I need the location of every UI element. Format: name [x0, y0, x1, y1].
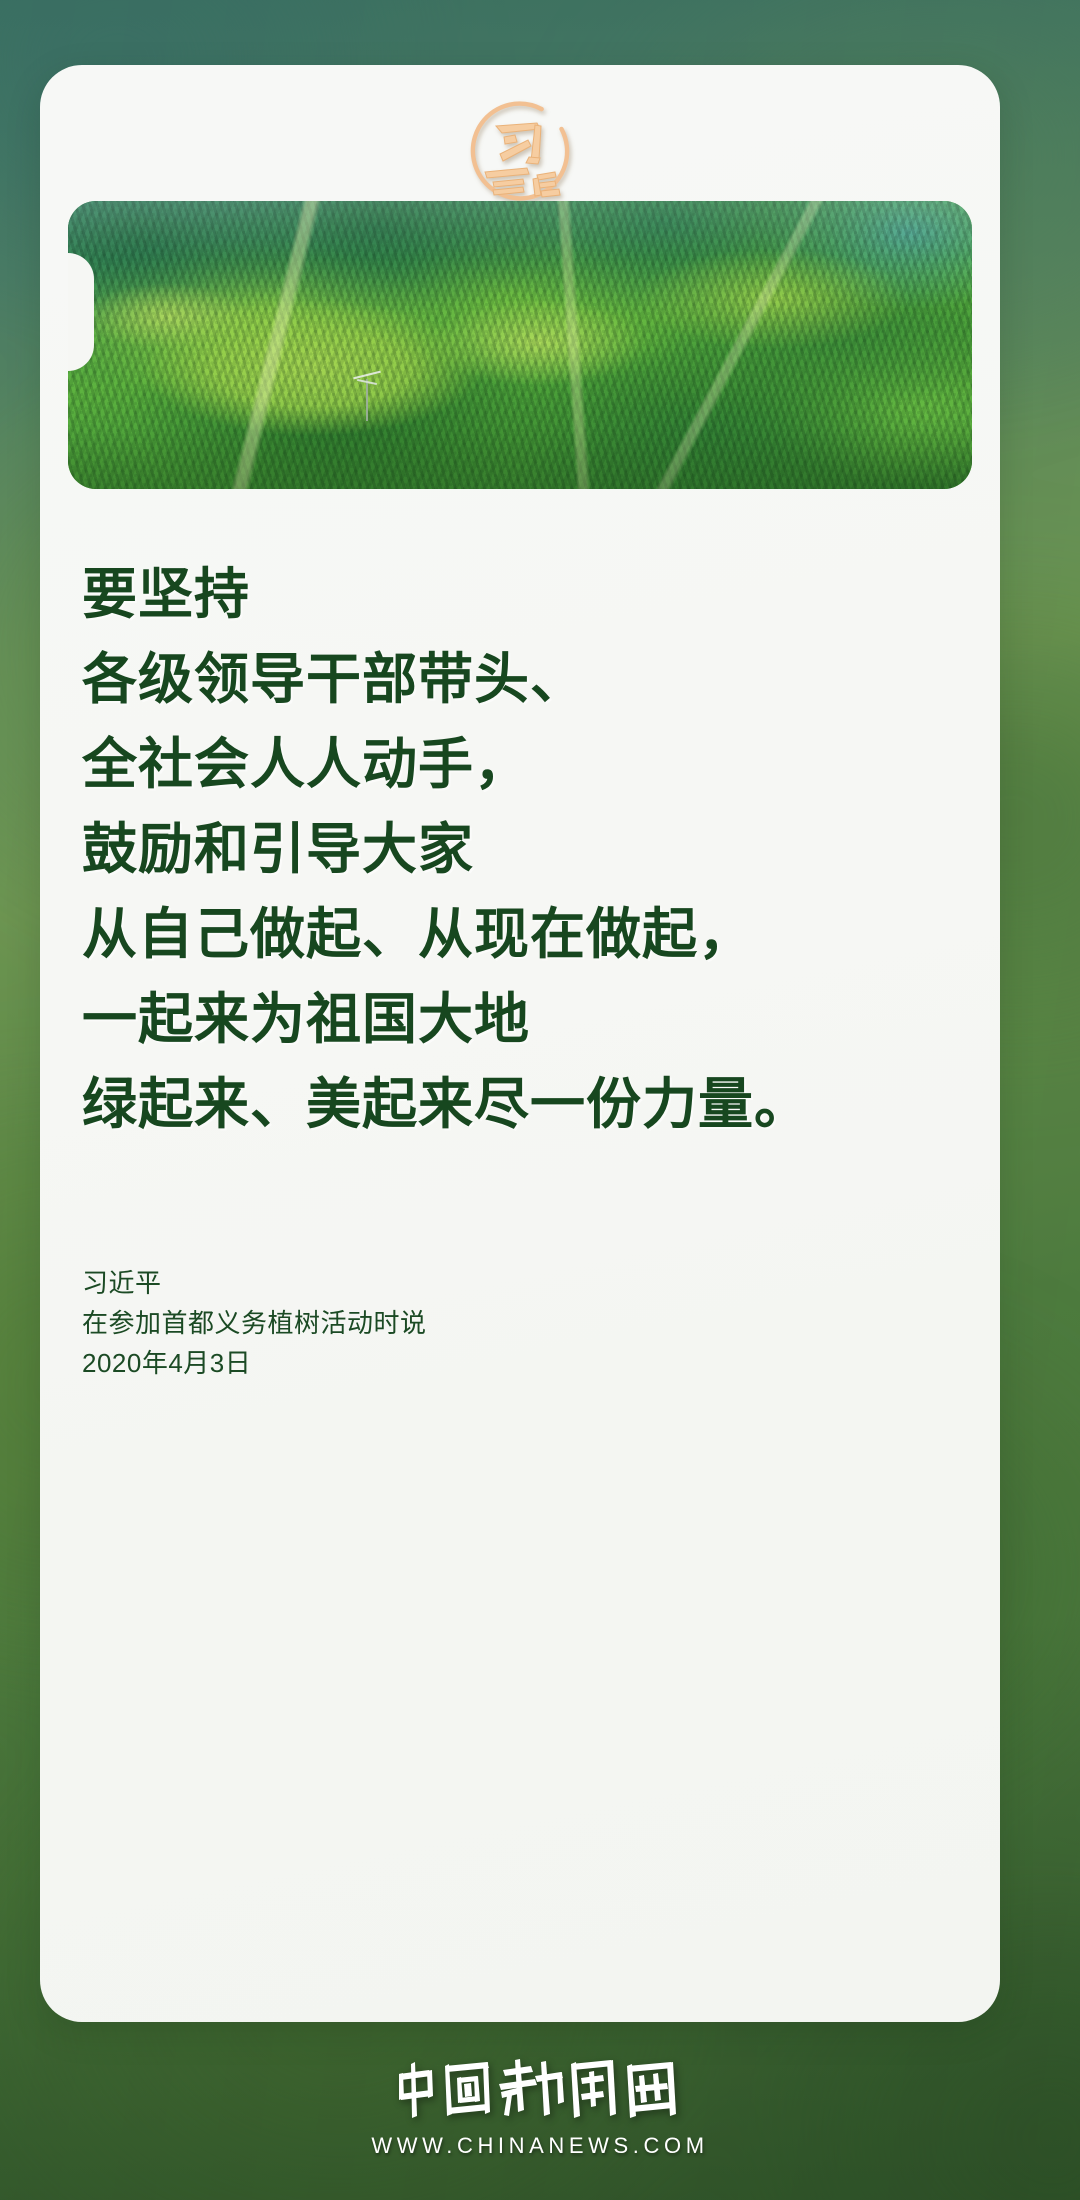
- quote-text: 要坚持 各级领导干部带头、 全社会人人动手， 鼓励和引导大家 从自己做起、从现在…: [82, 552, 962, 1147]
- quote-line: 绿起来、美起来尽一份力量。: [82, 1062, 962, 1147]
- photo-left-notch: [68, 253, 94, 371]
- chinanews-wordmark-icon: [395, 2052, 685, 2126]
- brand-logo: [40, 87, 1000, 215]
- quote-line: 全社会人人动手，: [82, 722, 962, 807]
- quote-line: 从自己做起、从现在做起，: [82, 892, 962, 977]
- ski-lift-pylon-icon: [366, 379, 368, 421]
- quote-line: 要坚持: [82, 552, 962, 637]
- quote-card: 要坚持 各级领导干部带头、 全社会人人动手， 鼓励和引导大家 从自己做起、从现在…: [40, 65, 1000, 2022]
- attribution-speaker: 习近平: [82, 1263, 427, 1303]
- attribution-date: 2020年4月3日: [82, 1343, 427, 1383]
- site-footer: WWW.CHINANEWS.COM: [0, 2052, 1080, 2172]
- attribution: 习近平 在参加首都义务植树活动时说 2020年4月3日: [82, 1263, 427, 1383]
- aerial-forest-photo: [68, 201, 972, 489]
- photo-shading: [68, 201, 972, 489]
- footer-url: WWW.CHINANEWS.COM: [371, 2133, 708, 2159]
- xi-yan-dao-seal-icon: [455, 99, 585, 203]
- quote-line: 一起来为祖国大地: [82, 977, 962, 1062]
- attribution-occasion: 在参加首都义务植树活动时说: [82, 1303, 427, 1343]
- quote-line: 鼓励和引导大家: [82, 807, 962, 892]
- quote-line: 各级领导干部带头、: [82, 637, 962, 722]
